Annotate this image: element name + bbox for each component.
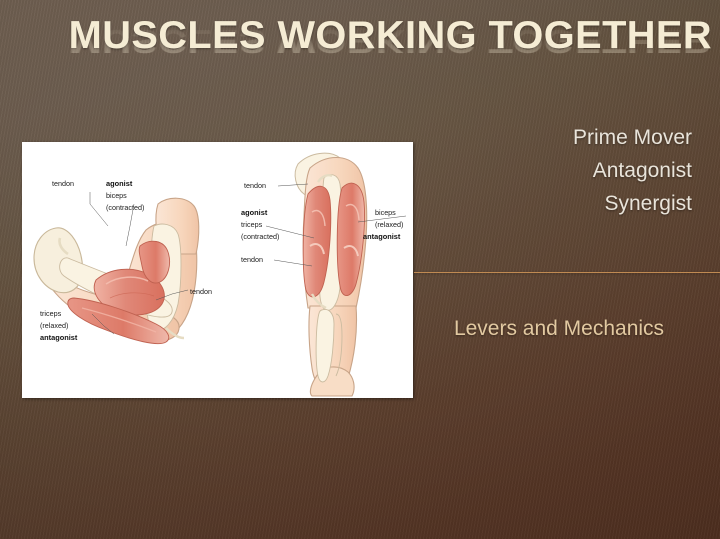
label-relaxed-ext: (relaxed) (375, 220, 403, 229)
slide-canvas: Muscles Working Together Muscles Working… (0, 0, 720, 539)
label-biceps-ext: biceps (375, 208, 396, 217)
section-divider (414, 272, 720, 273)
subheading-levers-and-mechanics: Levers and Mechanics (414, 315, 704, 343)
label-triceps: triceps (40, 309, 62, 318)
bullet-list: Prime Mover Antagonist Synergist (414, 121, 704, 220)
label-contracted: (contracted) (106, 203, 144, 212)
label-tendon-top: tendon (52, 179, 74, 188)
page-title-reflection: Muscles Working Together (0, 21, 712, 59)
title-block: Muscles Working Together Muscles Working… (0, 14, 712, 103)
label-antagonist-ext: antagonist (363, 232, 401, 241)
label-tendon-top-ext: tendon (244, 181, 266, 190)
bullet-synergist: Synergist (414, 187, 704, 220)
label-antagonist: antagonist (40, 333, 78, 342)
bullet-antagonist: Antagonist (414, 154, 704, 187)
label-contracted-ext: (contracted) (241, 232, 279, 241)
label-tendon-bottom-ext: tendon (241, 255, 263, 264)
label-agonist: agonist (106, 179, 133, 188)
label-biceps: biceps (106, 191, 127, 200)
anatomy-diagram-svg: tendon agonist biceps (contracted) tendo… (22, 142, 413, 398)
bullet-prime-mover: Prime Mover (414, 121, 704, 154)
label-relaxed: (relaxed) (40, 321, 68, 330)
anatomy-figure-panel: tendon agonist biceps (contracted) tendo… (22, 142, 413, 398)
label-triceps-ext: triceps (241, 220, 263, 229)
label-tendon-elbow: tendon (190, 287, 212, 296)
label-agonist-ext: agonist (241, 208, 268, 217)
